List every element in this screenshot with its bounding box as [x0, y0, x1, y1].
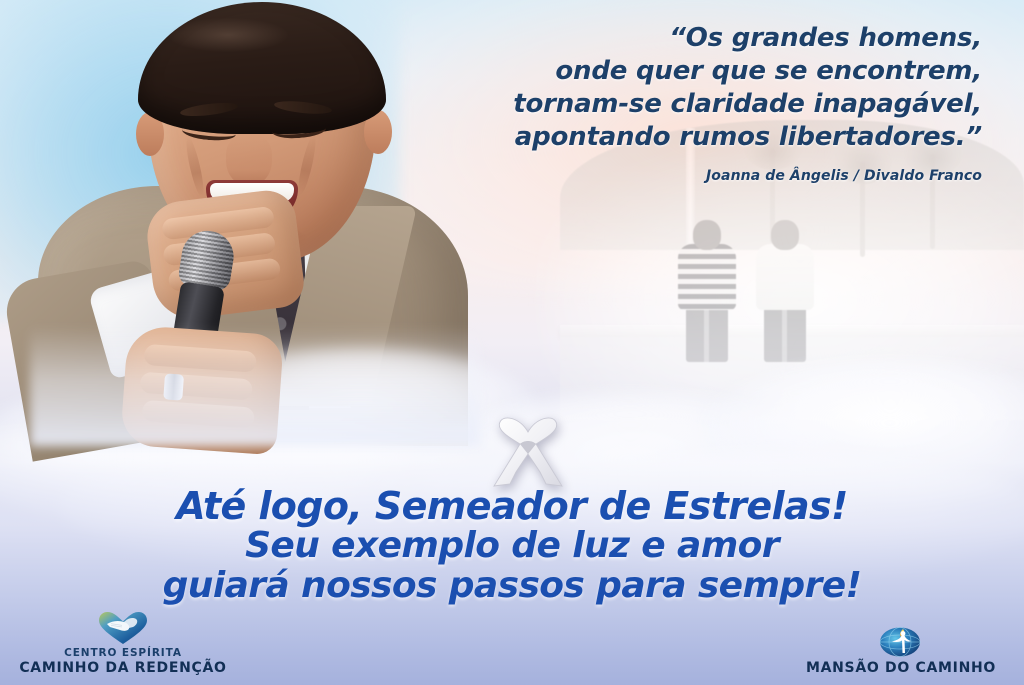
mourning-ribbon-icon	[480, 410, 576, 490]
globe-figure-logo-icon	[878, 620, 924, 658]
headline-line: Até logo, Semeador de Estrelas!	[0, 486, 1024, 526]
heart-hands-logo-icon	[98, 611, 148, 645]
nose	[226, 134, 272, 186]
quote-block: “Os grandes homens, onde quer que se enc…	[362, 22, 982, 184]
headline-block: Até logo, Semeador de Estrelas! Seu exem…	[0, 486, 1024, 606]
headline-line: guiará nossos passos para sempre!	[0, 566, 1024, 606]
headline-line: Seu exemplo de luz e amor	[0, 526, 1024, 566]
logo-mansao-do-caminho: MANSÃO DO CAMINHO	[786, 620, 1016, 677]
logo-centro-espirita: CENTRO ESPÍRITA CAMINHO DA REDENÇÃO	[8, 611, 238, 677]
quote-line: “Os grandes homens,	[362, 22, 982, 55]
logo-right-line1: MANSÃO DO CAMINHO	[786, 660, 1016, 677]
hair	[138, 2, 386, 134]
logo-left-line2: CAMINHO DA REDENÇÃO	[8, 660, 238, 677]
memorial-poster: “Os grandes homens, onde quer que se enc…	[0, 0, 1024, 685]
quote-line: apontando rumos libertadores.”	[362, 121, 982, 154]
quote-author: Joanna de Ângelis / Divaldo Franco	[362, 168, 982, 184]
portrait-fade	[30, 326, 480, 446]
quote-line: onde quer que se encontrem,	[362, 55, 982, 88]
logo-left-line1: CENTRO ESPÍRITA	[8, 647, 238, 660]
quote-line: tornam-se claridade inapagável,	[362, 88, 982, 121]
